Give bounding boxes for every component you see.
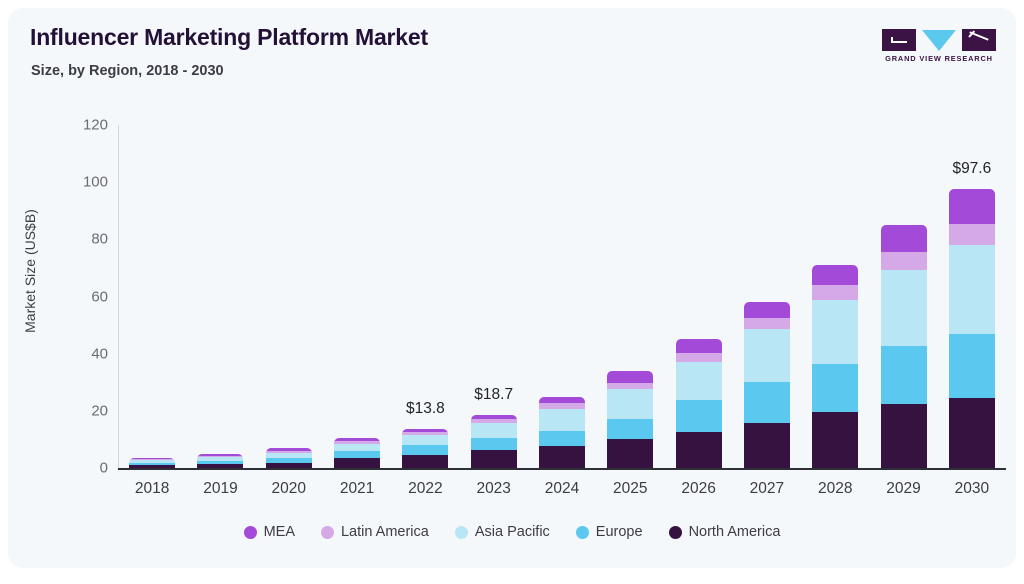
bar-segment-asia-pacific[interactable] <box>812 300 858 364</box>
x-axis-tick-label: 2026 <box>681 480 715 498</box>
bar-group-2021[interactable] <box>334 125 380 468</box>
bar-segment-latin-america[interactable] <box>949 224 995 245</box>
y-axis-tick-label: 120 <box>38 117 108 134</box>
bar-stack <box>744 302 790 468</box>
bar-segment-europe[interactable] <box>471 438 517 450</box>
bar-group-2027[interactable] <box>744 125 790 468</box>
logo-g-mark-icon <box>882 29 916 51</box>
legend-swatch-icon <box>576 526 589 539</box>
x-axis-tick-label: 2022 <box>408 480 442 498</box>
bar-segment-north-america[interactable] <box>812 412 858 468</box>
bar-segment-mea[interactable] <box>676 339 722 353</box>
bar-segment-europe[interactable] <box>539 431 585 446</box>
legend-label: Latin America <box>341 524 429 540</box>
x-axis-tick-label: 2029 <box>886 480 920 498</box>
x-axis-tick-label: 2020 <box>272 480 306 498</box>
legend-label: Europe <box>596 524 643 540</box>
x-axis-line <box>118 468 1006 470</box>
bar-segment-asia-pacific[interactable] <box>471 423 517 438</box>
bar-segment-latin-america[interactable] <box>812 285 858 300</box>
y-axis-tick-label: 80 <box>38 231 108 248</box>
bar-segment-asia-pacific[interactable] <box>539 409 585 432</box>
bar-segment-north-america[interactable] <box>607 439 653 468</box>
bar-segment-europe[interactable] <box>607 419 653 439</box>
y-axis-tick-label: 60 <box>38 288 108 305</box>
bar-segment-mea[interactable] <box>607 371 653 383</box>
y-axis-label: Market Size (US$B) <box>22 171 38 371</box>
grand-view-research-logo: GRAND VIEW RESEARCH <box>880 29 998 67</box>
bar-stack <box>334 438 380 468</box>
chart-card: Influencer Marketing Platform Market Siz… <box>8 8 1016 568</box>
bar-segment-asia-pacific[interactable] <box>607 389 653 419</box>
bar-stack <box>607 371 653 468</box>
bar-segment-mea[interactable] <box>881 225 927 252</box>
bar-group-2018[interactable] <box>129 125 175 468</box>
x-axis-tick-label: 2021 <box>340 480 374 498</box>
legend-label: MEA <box>264 524 295 540</box>
bar-value-label: $97.6 <box>952 160 991 178</box>
bar-stack <box>881 225 927 468</box>
bar-segment-europe[interactable] <box>881 346 927 404</box>
bar-segment-mea[interactable] <box>539 397 585 404</box>
bar-segment-latin-america[interactable] <box>744 318 790 329</box>
legend-swatch-icon <box>244 526 257 539</box>
bar-segment-latin-america[interactable] <box>676 353 722 362</box>
legend-swatch-icon <box>455 526 468 539</box>
bar-group-2020[interactable] <box>266 125 312 468</box>
bar-segment-north-america[interactable] <box>744 423 790 468</box>
bar-segment-asia-pacific[interactable] <box>676 362 722 400</box>
bar-stack <box>949 189 995 468</box>
bar-segment-north-america[interactable] <box>949 398 995 468</box>
bar-segment-asia-pacific[interactable] <box>881 270 927 346</box>
bar-group-2024[interactable] <box>539 125 585 468</box>
bar-stack <box>266 448 312 468</box>
x-axis-tick-label: 2023 <box>476 480 510 498</box>
logo-r-mark-icon <box>962 29 996 51</box>
legend-swatch-icon <box>321 526 334 539</box>
bar-segment-latin-america[interactable] <box>881 252 927 270</box>
bar-stack <box>812 265 858 468</box>
bar-segment-europe[interactable] <box>744 382 790 423</box>
bar-segment-europe[interactable] <box>334 451 380 458</box>
legend-item-europe[interactable]: Europe <box>576 524 643 540</box>
bar-group-2025[interactable] <box>607 125 653 468</box>
legend-item-asia-pacific[interactable]: Asia Pacific <box>455 524 550 540</box>
y-axis-ticks: 020406080100120 <box>28 8 108 584</box>
x-axis-tick-label: 2019 <box>203 480 237 498</box>
plot-area <box>118 125 1006 468</box>
bar-stack <box>402 429 448 468</box>
bar-segment-europe[interactable] <box>676 400 722 432</box>
bar-stack <box>539 397 585 468</box>
bar-segment-europe[interactable] <box>812 364 858 412</box>
bar-segment-asia-pacific[interactable] <box>402 435 448 445</box>
bar-segment-north-america[interactable] <box>881 404 927 468</box>
x-axis-tick-label: 2030 <box>955 480 989 498</box>
bar-segment-north-america[interactable] <box>129 465 175 468</box>
bar-stack <box>129 458 175 468</box>
legend-item-north-america[interactable]: North America <box>669 524 781 540</box>
bar-segment-north-america[interactable] <box>539 446 585 468</box>
x-axis-tick-label: 2024 <box>545 480 579 498</box>
x-axis-tick-label: 2028 <box>818 480 852 498</box>
x-axis-tick-label: 2025 <box>613 480 647 498</box>
bar-segment-mea[interactable] <box>949 189 995 224</box>
bar-segment-asia-pacific[interactable] <box>334 444 380 451</box>
x-axis-tick-label: 2027 <box>750 480 784 498</box>
bar-segment-asia-pacific[interactable] <box>744 329 790 382</box>
bar-segment-north-america[interactable] <box>334 458 380 468</box>
bar-value-label: $13.8 <box>406 400 445 418</box>
y-axis-tick-label: 40 <box>38 345 108 362</box>
bar-segment-north-america[interactable] <box>471 450 517 468</box>
logo-v-triangle-icon <box>922 30 956 51</box>
bar-segment-north-america[interactable] <box>402 455 448 468</box>
y-axis-tick-label: 100 <box>38 174 108 191</box>
bar-group-2026[interactable] <box>676 125 722 468</box>
bar-segment-asia-pacific[interactable] <box>949 245 995 334</box>
legend-swatch-icon <box>669 526 682 539</box>
bar-segment-north-america[interactable] <box>266 463 312 468</box>
bar-segment-north-america[interactable] <box>676 432 722 468</box>
bar-segment-mea[interactable] <box>812 265 858 285</box>
chart-legend: MEALatin AmericaAsia PacificEuropeNorth … <box>8 524 1016 540</box>
x-axis-tick-label: 2018 <box>135 480 169 498</box>
bar-segment-latin-america[interactable] <box>607 383 653 390</box>
bar-group-2023[interactable] <box>471 125 517 468</box>
bar-stack <box>676 339 722 468</box>
bar-segment-europe[interactable] <box>949 334 995 398</box>
y-axis-tick-label: 20 <box>38 402 108 419</box>
y-axis-tick-label: 0 <box>38 460 108 477</box>
bar-group-2019[interactable] <box>197 125 243 468</box>
legend-label: North America <box>689 524 781 540</box>
legend-item-mea[interactable]: MEA <box>244 524 295 540</box>
bar-value-label: $18.7 <box>474 386 513 404</box>
legend-label: Asia Pacific <box>475 524 550 540</box>
logo-wordmark: GRAND VIEW RESEARCH <box>880 54 998 63</box>
bar-group-2029[interactable] <box>881 125 927 468</box>
bar-stack <box>471 415 517 468</box>
bar-segment-europe[interactable] <box>402 445 448 454</box>
logo-bracket-icon <box>891 37 907 43</box>
bar-segment-north-america[interactable] <box>197 464 243 468</box>
bar-group-2028[interactable] <box>812 125 858 468</box>
bar-segment-mea[interactable] <box>744 302 790 318</box>
legend-item-latin-america[interactable]: Latin America <box>321 524 429 540</box>
bar-stack <box>197 454 243 468</box>
